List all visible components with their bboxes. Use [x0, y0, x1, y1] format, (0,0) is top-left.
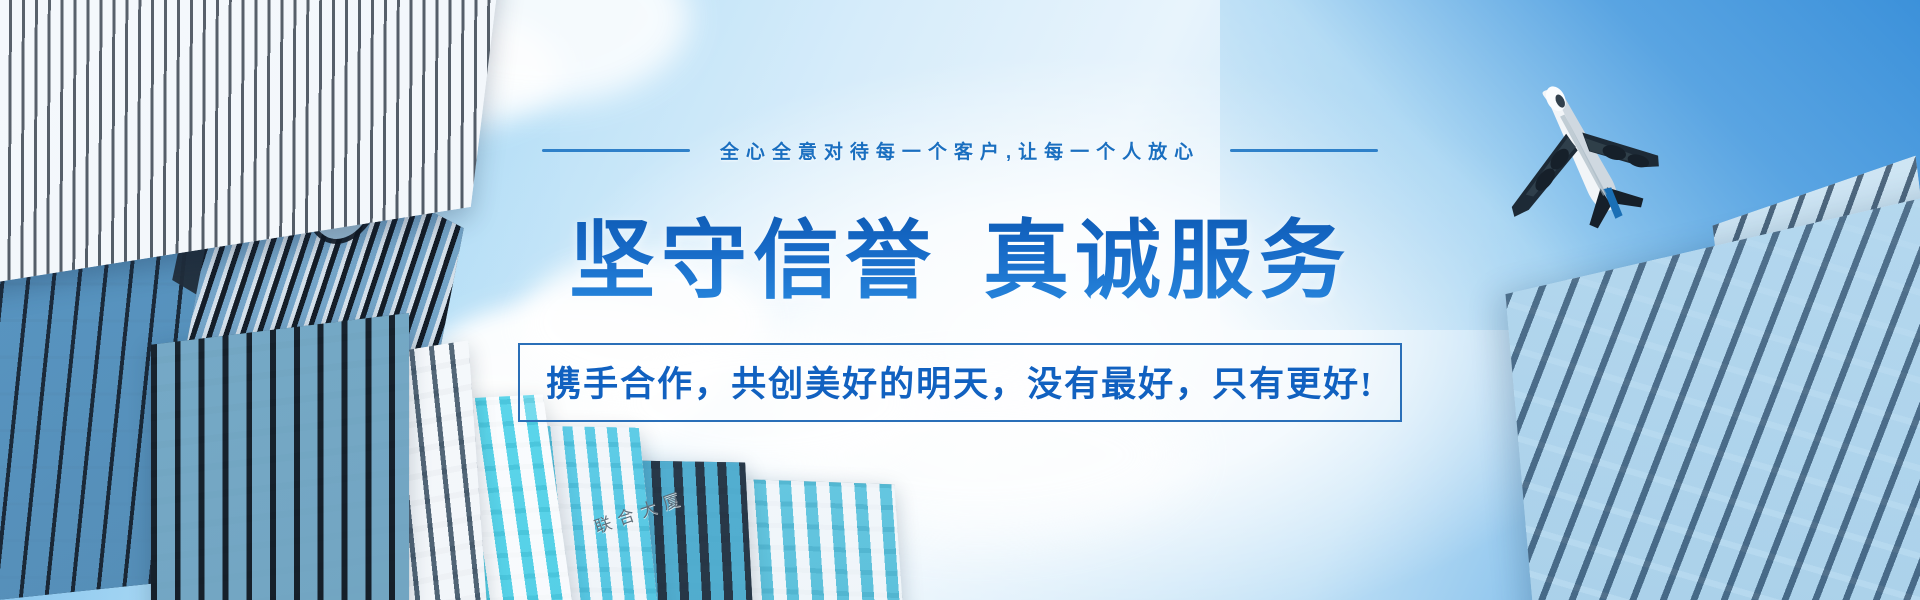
hero-banner: 联合大厦: [0, 0, 1920, 600]
airplane-icon: [1478, 70, 1688, 230]
tower-dark-left: [151, 313, 409, 600]
cloud-icon: [600, 330, 930, 475]
